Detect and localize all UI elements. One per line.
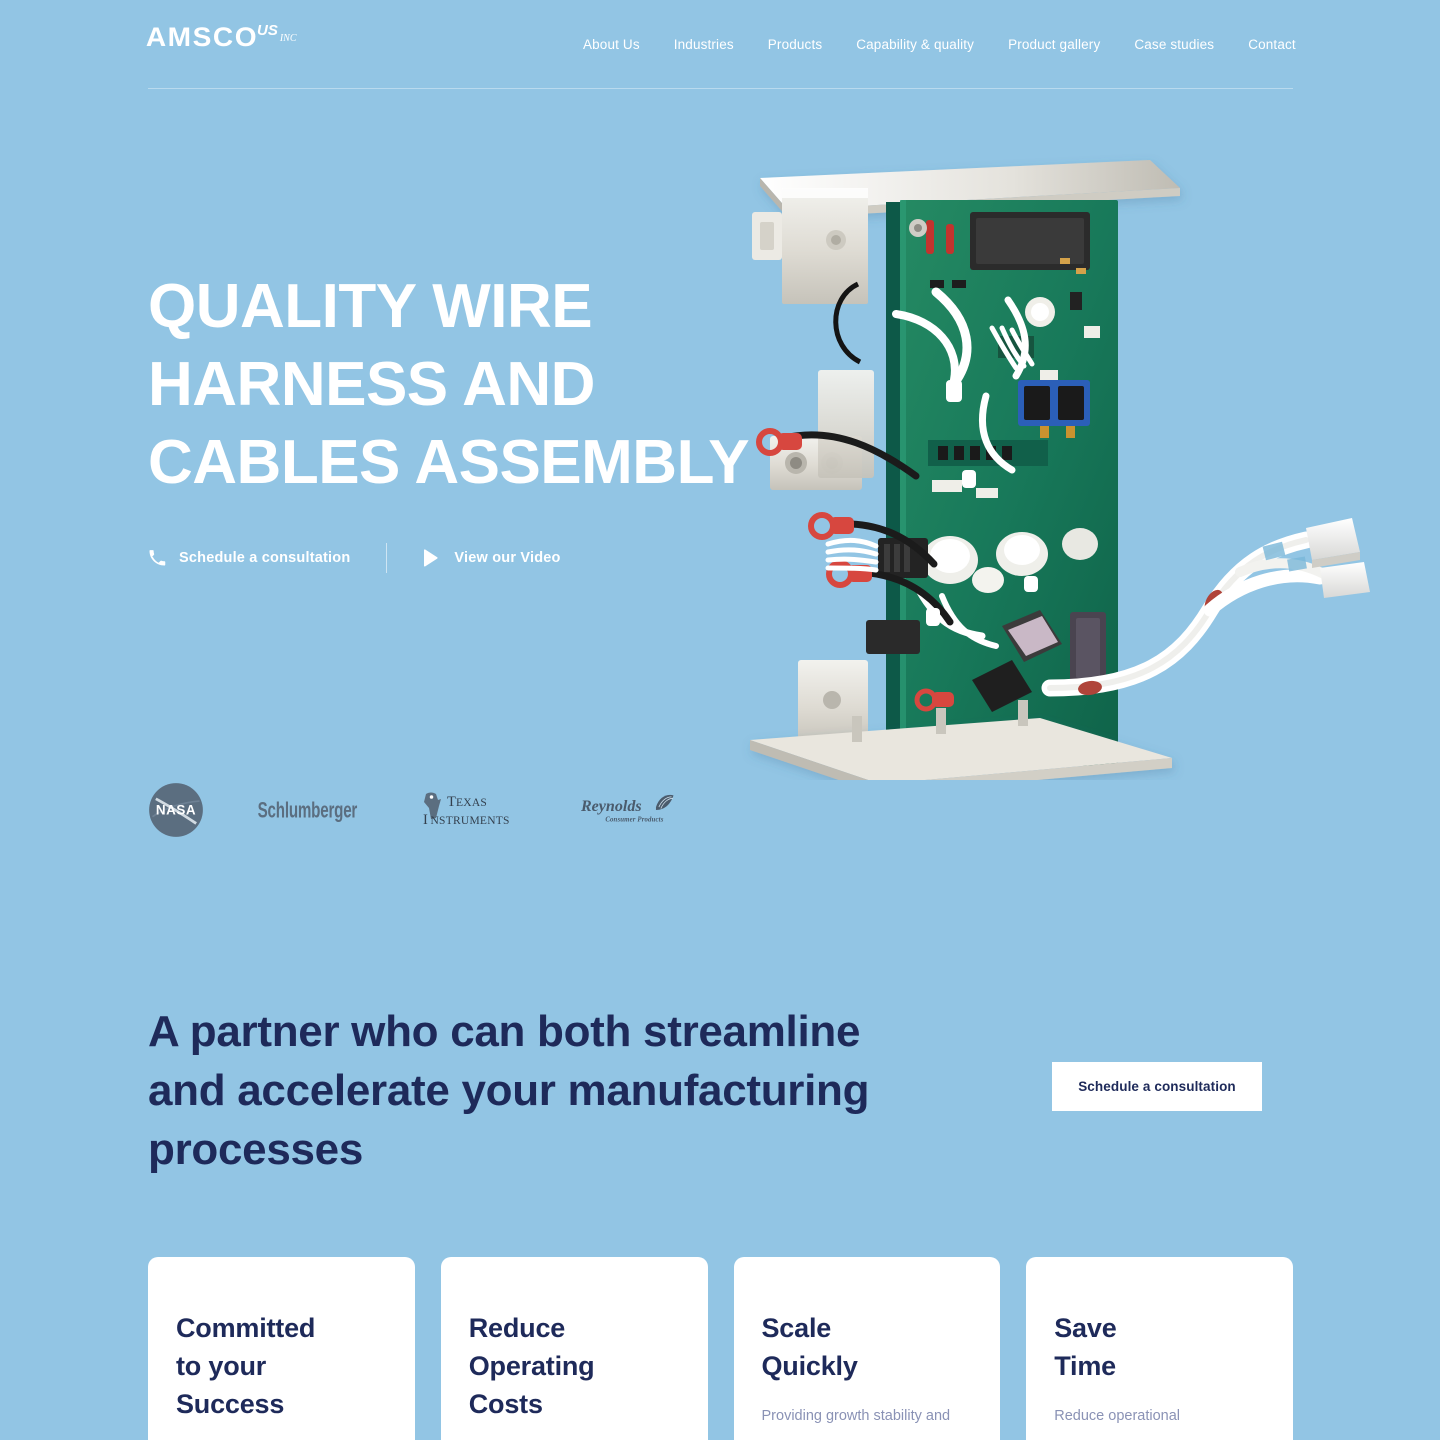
cta-divider (386, 543, 387, 573)
site-logo[interactable]: AMSCO US INC (148, 22, 297, 52)
benefit-card[interactable]: Reduce Operating Costs Experienced Perso… (441, 1257, 708, 1440)
benefit-card[interactable]: Committed to your Success Providing comp… (148, 1257, 415, 1440)
benefit-card-title: Save Time (1054, 1309, 1265, 1385)
header-divider (148, 88, 1293, 89)
nav-item-industries[interactable]: Industries (674, 31, 734, 58)
main-navigation: About Us Industries Products Capability … (583, 0, 1296, 88)
phone-icon (148, 549, 166, 567)
nav-item-products[interactable]: Products (768, 31, 822, 58)
logo-text-amsco: AMSCO (146, 22, 258, 52)
schedule-consultation-label: Schedule a consultation (179, 550, 350, 566)
schedule-consultation-button[interactable]: Schedule a consultation (1052, 1062, 1262, 1111)
hero-title: QUALITY WIRE HARNESS AND CABLES ASSEMBLY (148, 268, 828, 502)
site-header: AMSCO US INC About Us Industries Product… (0, 0, 1440, 88)
benefit-card-body: Providing growth stability and (762, 1405, 973, 1428)
client-logo-strip: NASA Schlumberger T EXAS I NSTRUMENTS Re… (148, 782, 692, 838)
benefit-card-body: Reduce operational (1054, 1405, 1265, 1428)
logo-text-us: US (257, 24, 278, 38)
landing-page: AMSCO US INC About Us Industries Product… (0, 0, 1440, 1440)
nav-item-capability-quality[interactable]: Capability & quality (856, 31, 974, 58)
client-logo-nasa: NASA (148, 782, 204, 838)
client-logo-schlumberger: Schlumberger (256, 793, 366, 827)
play-icon (423, 549, 441, 567)
view-video-label: View our Video (454, 550, 560, 566)
nav-item-product-gallery[interactable]: Product gallery (1008, 31, 1100, 58)
benefit-card-title: Reduce Operating Costs (469, 1309, 680, 1423)
nav-item-case-studies[interactable]: Case studies (1134, 31, 1214, 58)
schedule-consultation-link[interactable]: Schedule a consultation (148, 549, 350, 567)
svg-text:Schlumberger: Schlumberger (258, 799, 358, 824)
client-logo-reynolds: Reynolds Consumer Products (580, 791, 692, 829)
benefit-card[interactable]: Save Time Reduce operational (1026, 1257, 1293, 1440)
svg-text:NSTRUMENTS: NSTRUMENTS (431, 815, 510, 827)
hero-cta-group: Schedule a consultation View our Video (148, 543, 561, 573)
view-video-link[interactable]: View our Video (423, 549, 560, 567)
logo-text-inc: INC (280, 34, 297, 44)
svg-text:T: T (447, 794, 456, 810)
hero-product-image (740, 140, 1380, 780)
svg-text:Consumer Products: Consumer Products (605, 817, 663, 824)
nav-item-about-us[interactable]: About Us (583, 31, 640, 58)
benefit-card[interactable]: Scale Quickly Providing growth stability… (734, 1257, 1001, 1440)
nav-item-contact[interactable]: Contact (1248, 31, 1296, 58)
benefit-card-grid: Committed to your Success Providing comp… (148, 1257, 1293, 1440)
value-proposition-heading: A partner who can both streamline and ac… (148, 1002, 938, 1179)
benefit-card-title: Committed to your Success (176, 1309, 387, 1423)
svg-text:I: I (423, 812, 428, 828)
client-logo-texas-instruments: T EXAS I NSTRUMENTS (418, 789, 528, 831)
svg-text:Reynolds: Reynolds (580, 798, 642, 815)
svg-text:NASA: NASA (156, 802, 196, 817)
benefit-card-title: Scale Quickly (762, 1309, 973, 1385)
svg-text:EXAS: EXAS (456, 797, 487, 809)
